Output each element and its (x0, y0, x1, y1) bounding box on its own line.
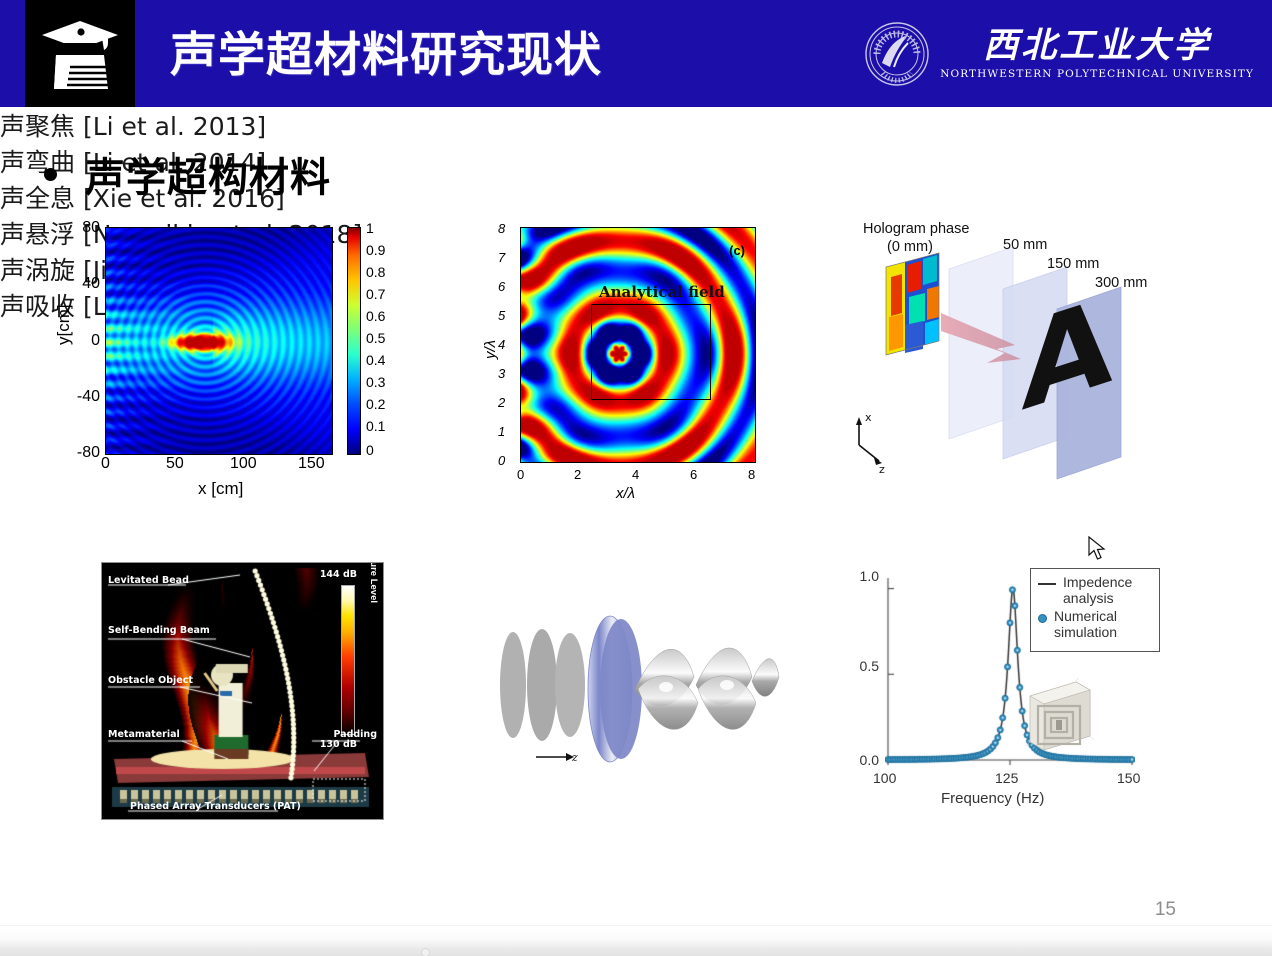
fig2-roi-box (591, 304, 711, 400)
fig6-ytick-0.5: 0.5 (845, 658, 879, 674)
caption-acoustic-focusing: 声聚焦 [Li et al. 2013] (0, 107, 1272, 143)
figure-acoustic-vortex: z (480, 577, 780, 817)
fig2-ytick-8: 0 (498, 453, 505, 468)
fig4-label-metamaterial: Metamaterial (108, 729, 180, 740)
fig2-ytick-2: 6 (498, 279, 505, 294)
fig1-xtick-2: 100 (230, 455, 257, 473)
legend-line-swatch (1038, 583, 1056, 585)
bullet-heading-label: 声学超构材料 (85, 145, 331, 203)
fig1-ytick-3: -40 (58, 388, 100, 406)
fig1-cbar-tick-6: 0.4 (366, 352, 385, 368)
fig3-label-300mm: 300 mm (1095, 275, 1147, 291)
figure-acoustic-levitation: Sound Pressure Level 144 dB 130 dB Levit… (101, 562, 384, 820)
fig2-xtick-2: 4 (632, 467, 639, 482)
fig6-ytick-1.0: 1.0 (845, 568, 879, 584)
fig1-xlabel: x [cm] (198, 479, 243, 499)
fig6-unit-cell-inset (1020, 674, 1098, 752)
slide-header: 声学超材料研究现状 西北工业大学 NORTHWESTERN POLYTECHNI… (0, 0, 1272, 107)
figure-acoustic-bending: 8 7 6 5 4 3 2 1 0 y/λ (c) Analytical fie… (484, 217, 774, 507)
fig2-panel-label: (c) (729, 243, 745, 258)
fig2-annotation: Analytical field (599, 283, 725, 301)
fig2-ytick-6: 2 (498, 395, 505, 410)
fig2-ytick-3: 5 (498, 308, 505, 323)
fig6-xtick-100: 100 (873, 770, 896, 786)
fig1-cbar-tick-3: 0.7 (366, 286, 385, 302)
bottom-toolbar (0, 925, 1272, 956)
fig2-xtick-1: 2 (574, 467, 581, 482)
fig2-ytick-5: 3 (498, 366, 505, 381)
page-number: 15 (1155, 899, 1176, 921)
svg-text:z: z (879, 463, 885, 476)
university-name-cn: 西北工业大学 (983, 28, 1211, 63)
fig2-field-map: (c) Analytical field (520, 227, 756, 463)
fig2-xlabel: x/λ (616, 485, 635, 502)
mouse-cursor (1088, 536, 1106, 562)
fig2-ytick-4: 4 (498, 337, 505, 352)
svg-text:z: z (571, 751, 578, 764)
legend-label-impedance: Impedence analysis (1063, 575, 1152, 606)
fig1-xtick-3: 150 (298, 455, 325, 473)
fig5-vortex-diagram: z (480, 577, 780, 817)
fig1-xtick-0: 0 (101, 455, 110, 473)
fig4-label-obstacle-object: Obstacle Object (108, 675, 193, 686)
fig3-label-hologram-phase: Hologram phase (863, 221, 969, 237)
fig6-legend: Impedence analysis Numerical simulation (1030, 568, 1160, 652)
fig4-spl-colorbar (341, 585, 355, 735)
fig2-xtick-0: 0 (517, 467, 524, 482)
fig2-ylabel: y/λ (482, 340, 499, 359)
university-seal-icon (864, 21, 930, 87)
legend-item-impedance: Impedence analysis (1038, 575, 1152, 606)
fig4-spl-min: 130 dB (320, 739, 357, 750)
fig3-label-50mm: 50 mm (1003, 237, 1047, 253)
fig1-cbar-tick-0: 1 (366, 220, 374, 236)
fig1-cbar-tick-1: 0.9 (366, 242, 385, 258)
fig1-cbar-tick-7: 0.3 (366, 374, 385, 390)
fig1-ytick-1: 40 (58, 275, 100, 293)
fig4-label-pat: Phased Array Transducers (PAT) (130, 801, 301, 812)
figure-acoustic-absorption: 1.0 0.5 0.0 100 125 150 Frequency (Hz) I… (845, 562, 1165, 822)
page-title: 声学超材料研究现状 (170, 16, 602, 85)
fig4-spl-title: Sound Pressure Level (368, 562, 379, 603)
fig2-xtick-4: 8 (748, 467, 755, 482)
fig1-colorbar (347, 227, 361, 455)
fig2-xtick-3: 6 (690, 467, 697, 482)
legend-dot-swatch (1038, 614, 1047, 623)
fig1-heatmap (105, 227, 333, 455)
fig1-xtick-1: 50 (166, 455, 184, 473)
fig6-xlabel: Frequency (Hz) (941, 790, 1044, 807)
figure-acoustic-hologram: A x z Hologram phase (0 mm) 50 mm 150 mm… (845, 217, 1165, 507)
svg-text:x: x (865, 411, 872, 424)
fig1-cbar-tick-9: 0.1 (366, 418, 385, 434)
fig1-cbar-tick-8: 0.2 (366, 396, 385, 412)
fig3-hologram-diagram: A x z (845, 217, 1165, 507)
bullet-dot-icon (44, 168, 57, 181)
fig1-cbar-tick-2: 0.8 (366, 264, 385, 280)
fig6-xtick-150: 150 (1117, 770, 1140, 786)
fig2-ytick-1: 7 (498, 250, 505, 265)
toolbar-dot-icon (421, 948, 430, 956)
fig3-label-150mm: 150 mm (1047, 256, 1099, 272)
fig1-cbar-tick-10: 0 (366, 442, 374, 458)
figure-acoustic-focusing: y[cm] 80 40 0 -40 -80 0 50 100 150 x [cm… (58, 217, 398, 507)
fig4-label-levitated-bead: Levitated Bead (108, 575, 189, 586)
slide-body: 声学超构材料 y[cm] 80 40 0 -40 -80 0 50 100 15… (0, 107, 1272, 925)
legend-item-numerical: Numerical simulation (1038, 609, 1152, 640)
fig4-label-self-bending-beam: Self-Bending Beam (108, 625, 210, 636)
legend-label-numerical: Numerical simulation (1054, 609, 1152, 640)
bullet-heading: 声学超构材料 (44, 145, 331, 203)
fig4-spl-max: 144 dB (320, 569, 357, 580)
university-name-en: NORTHWESTERN POLYTECHNICAL UNIVERSITY (940, 68, 1254, 80)
fig1-ytick-0: 80 (58, 219, 100, 237)
fig1-cbar-tick-5: 0.5 (366, 330, 385, 346)
fig6-xtick-125: 125 (995, 770, 1018, 786)
university-logo: 西北工业大学 NORTHWESTERN POLYTECHNICAL UNIVER… (864, 16, 1254, 91)
fig2-ytick-7: 1 (498, 424, 505, 439)
fig6-ytick-0.0: 0.0 (845, 752, 879, 768)
fig4-label-padding: Padding (333, 729, 377, 740)
graduation-cap-books-icon (38, 15, 122, 93)
graduation-cap-books-logo (25, 0, 135, 107)
fig1-cbar-tick-4: 0.6 (366, 308, 385, 324)
fig2-ytick-0: 8 (498, 221, 505, 236)
fig1-ytick-4: -80 (58, 444, 100, 462)
fig1-ytick-2: 0 (58, 332, 100, 350)
fig3-label-0mm: (0 mm) (887, 239, 933, 255)
